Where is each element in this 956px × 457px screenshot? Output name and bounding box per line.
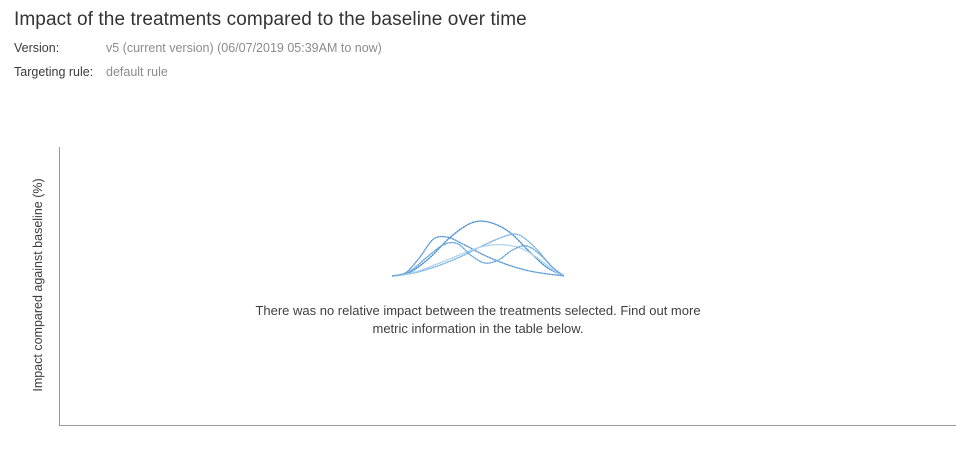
- empty-state-message: There was no relative impact between the…: [243, 302, 713, 338]
- empty-state: There was no relative impact between the…: [0, 214, 956, 338]
- targeting-rule-label: Targeting rule:: [14, 64, 106, 80]
- left-peaked-curve: [392, 237, 564, 276]
- targeting-rule-row: Targeting rule: default rule: [14, 64, 914, 80]
- header-block: Impact of the treatments compared to the…: [14, 8, 914, 80]
- overlapping-bell-curves-icon: [392, 214, 564, 284]
- x-axis-line: [59, 425, 956, 426]
- version-label: Version:: [14, 40, 106, 56]
- version-row: Version: v5 (current version) (06/07/201…: [14, 40, 914, 56]
- version-value: v5 (current version) (06/07/2019 05:39AM…: [106, 40, 382, 56]
- right-peaked-curve: [392, 234, 564, 276]
- targeting-rule-value: default rule: [106, 64, 168, 80]
- page-title: Impact of the treatments compared to the…: [14, 8, 914, 32]
